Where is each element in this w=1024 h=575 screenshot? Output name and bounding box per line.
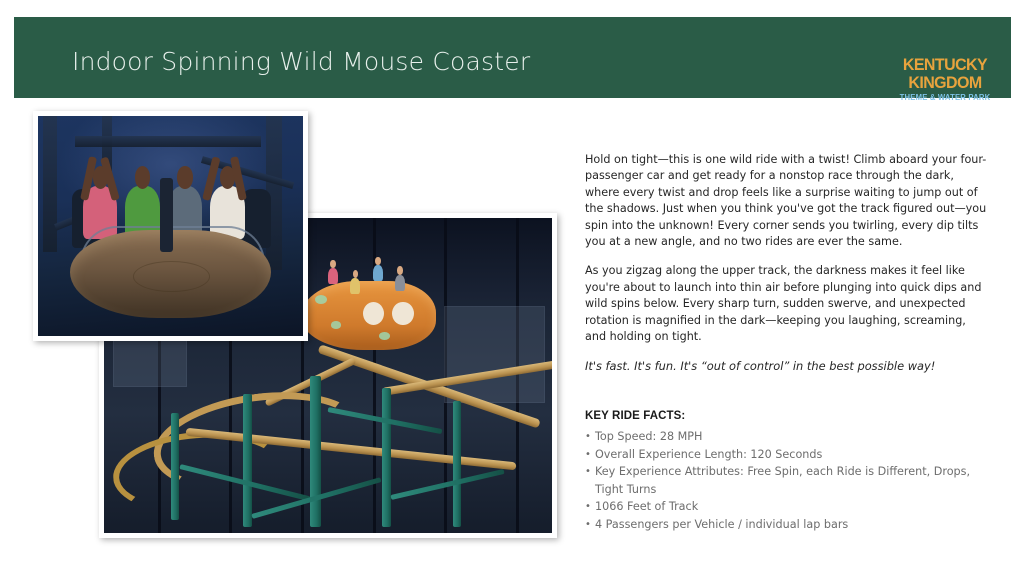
track-rider-4 [395, 275, 405, 291]
description-tagline: It's fast. It's fun. It's “out of contro… [585, 358, 990, 374]
key-ride-facts-heading: KEY RIDE FACTS: [585, 410, 990, 422]
support-column-3 [310, 376, 321, 527]
logo-tagline: THEME & WATER PARK [895, 94, 995, 102]
description-column: Hold on tight—this is one wild ride with… [585, 152, 990, 375]
page-title: Indoor Spinning Wild Mouse Coaster [72, 47, 530, 76]
support-column-4 [382, 388, 391, 527]
list-item: 4 Passengers per Vehicle / individual la… [585, 516, 990, 534]
key-ride-facts-block: KEY RIDE FACTS: Top Speed: 28 MPH Overal… [585, 410, 990, 534]
list-item: Key Experience Attributes: Free Spin, ea… [585, 463, 990, 498]
track-rider-1 [328, 268, 338, 284]
steel-crossbeam-top [75, 136, 261, 147]
mouse-spot-3 [379, 332, 390, 340]
track-rider-3 [373, 265, 383, 281]
mouse-coaster-car [301, 281, 435, 350]
mouse-eye-left [363, 302, 385, 326]
support-column-1 [171, 413, 179, 520]
car-center-post [160, 178, 173, 253]
support-column-2 [243, 394, 252, 526]
mouse-eye-right [392, 302, 414, 326]
logo-line-kingdom: KINGDOM [896, 74, 994, 91]
support-column-5 [453, 401, 461, 527]
coaster-car-photo-artwork [38, 116, 303, 336]
steel-column-left [43, 116, 56, 252]
coaster-car-riders-photo [33, 111, 308, 341]
logo-line-kentucky: KENTUCKY [896, 56, 994, 73]
description-paragraph-2: As you zigzag along the upper track, the… [585, 263, 990, 345]
mouse-spot-1 [315, 295, 327, 304]
description-paragraph-1: Hold on tight—this is one wild ride with… [585, 152, 990, 250]
key-ride-facts-list: Top Speed: 28 MPH Overall Experience Len… [585, 428, 990, 534]
list-item: Overall Experience Length: 120 Seconds [585, 446, 990, 464]
list-item: Top Speed: 28 MPH [585, 428, 990, 446]
header-banner: Indoor Spinning Wild Mouse Coaster KENTU… [14, 17, 1011, 98]
mouse-spot-2 [331, 321, 342, 329]
car-decal [133, 261, 209, 292]
list-item: 1066 Feet of Track [585, 498, 990, 516]
wall-window-right [444, 306, 545, 403]
kentucky-kingdom-logo: KENTUCKY KINGDOM THEME & WATER PARK [893, 56, 997, 102]
track-rider-2 [350, 278, 360, 294]
